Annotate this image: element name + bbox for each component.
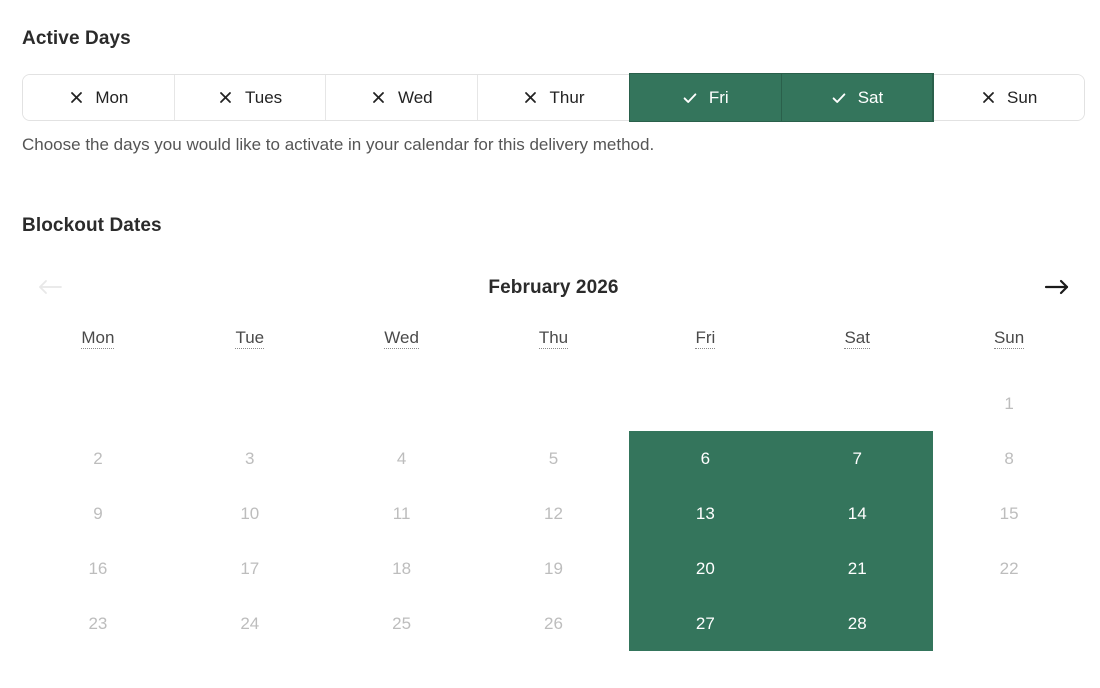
calendar-day[interactable]: 4 bbox=[326, 431, 478, 486]
calendar-day[interactable]: 5 bbox=[478, 431, 630, 486]
calendar-day[interactable]: 23 bbox=[22, 596, 174, 651]
calendar-weekday-label: Fri bbox=[695, 328, 715, 349]
calendar-weekday-label: Thu bbox=[539, 328, 568, 349]
calendar-day[interactable]: 1 bbox=[933, 376, 1085, 431]
calendar-day[interactable]: 10 bbox=[174, 486, 326, 541]
calendar-day[interactable]: 15 bbox=[933, 486, 1085, 541]
calendar-day[interactable]: 17 bbox=[174, 541, 326, 596]
calendar-day[interactable]: 2 bbox=[22, 431, 174, 486]
calendar-day[interactable]: 12 bbox=[478, 486, 630, 541]
active-days-helper-text: Choose the days you would like to activa… bbox=[22, 135, 654, 155]
calendar-weekday-label: Mon bbox=[81, 328, 114, 349]
calendar-week-row: 1 bbox=[22, 376, 1085, 431]
calendar-day-empty bbox=[478, 376, 630, 431]
calendar-day-blocked[interactable]: 13 bbox=[629, 486, 781, 541]
calendar-day[interactable]: 16 bbox=[22, 541, 174, 596]
calendar-day[interactable]: 26 bbox=[478, 596, 630, 651]
calendar-day-blocked[interactable]: 27 bbox=[629, 596, 781, 651]
day-toggle-label: Thur bbox=[550, 89, 585, 106]
calendar-day[interactable]: 24 bbox=[174, 596, 326, 651]
calendar-weekday-label: Sat bbox=[844, 328, 870, 349]
x-icon bbox=[523, 90, 539, 106]
calendar-day-blocked[interactable]: 14 bbox=[781, 486, 933, 541]
calendar-day-blocked[interactable]: 28 bbox=[781, 596, 933, 651]
calendar-weekday-label: Sun bbox=[994, 328, 1024, 349]
day-toggle-tues[interactable]: Tues bbox=[175, 75, 327, 120]
day-toggle-label: Fri bbox=[709, 89, 729, 106]
calendar-weekday-mon: Mon bbox=[22, 328, 174, 350]
calendar-weekday-sat: Sat bbox=[781, 328, 933, 350]
calendar-day[interactable]: 25 bbox=[326, 596, 478, 651]
calendar-weekday-wed: Wed bbox=[326, 328, 478, 350]
calendar-month-title: February 2026 bbox=[488, 277, 618, 299]
calendar-day-blocked[interactable]: 6 bbox=[629, 431, 781, 486]
day-toggle-fri[interactable]: Fri bbox=[630, 74, 782, 121]
arrow-left-icon bbox=[37, 278, 63, 299]
calendar-week-row: 16171819202122 bbox=[22, 541, 1085, 596]
calendar-weekday-fri: Fri bbox=[629, 328, 781, 350]
calendar-day[interactable]: 19 bbox=[478, 541, 630, 596]
calendar-week-row: 232425262728 bbox=[22, 596, 1085, 651]
calendar-day[interactable]: 22 bbox=[933, 541, 1085, 596]
calendar-day[interactable]: 18 bbox=[326, 541, 478, 596]
day-toggle-label: Sun bbox=[1007, 89, 1037, 106]
active-days-selector: MonTuesWedThurFriSatSun bbox=[22, 74, 1085, 121]
calendar-day[interactable]: 8 bbox=[933, 431, 1085, 486]
day-toggle-sat[interactable]: Sat bbox=[782, 74, 934, 121]
calendar-weeks: 1234567891011121314151617181920212223242… bbox=[22, 376, 1085, 651]
calendar-week-row: 9101112131415 bbox=[22, 486, 1085, 541]
blockout-dates-heading: Blockout Dates bbox=[22, 216, 162, 235]
calendar-day[interactable]: 9 bbox=[22, 486, 174, 541]
day-toggle-wed[interactable]: Wed bbox=[326, 75, 478, 120]
calendar-weekday-headers: MonTueWedThuFriSatSun bbox=[22, 328, 1085, 350]
day-toggle-mon[interactable]: Mon bbox=[23, 75, 175, 120]
calendar-day-empty bbox=[174, 376, 326, 431]
calendar-day[interactable]: 3 bbox=[174, 431, 326, 486]
calendar-weekday-sun: Sun bbox=[933, 328, 1085, 350]
calendar-day-blocked[interactable]: 21 bbox=[781, 541, 933, 596]
blockout-calendar: February 2026 MonTueWedThuFriSatSun 1234… bbox=[22, 258, 1085, 651]
x-icon bbox=[68, 90, 84, 106]
calendar-prev-month-button[interactable] bbox=[30, 272, 70, 304]
calendar-weekday-thu: Thu bbox=[478, 328, 630, 350]
calendar-day-empty bbox=[781, 376, 933, 431]
calendar-next-month-button[interactable] bbox=[1037, 272, 1077, 304]
x-icon bbox=[218, 90, 234, 106]
check-icon bbox=[831, 90, 847, 106]
calendar-weekday-tue: Tue bbox=[174, 328, 326, 350]
check-icon bbox=[682, 90, 698, 106]
calendar-day-empty bbox=[933, 596, 1085, 651]
blockout-dates-page: Active Days MonTuesWedThurFriSatSun Choo… bbox=[0, 0, 1100, 688]
active-days-heading: Active Days bbox=[22, 29, 131, 48]
calendar-week-row: 2345678 bbox=[22, 431, 1085, 486]
calendar-day-blocked[interactable]: 20 bbox=[629, 541, 781, 596]
day-toggle-sun[interactable]: Sun bbox=[933, 75, 1084, 120]
day-toggle-label: Sat bbox=[858, 89, 884, 106]
arrow-right-icon bbox=[1044, 278, 1070, 299]
calendar-header: February 2026 bbox=[22, 258, 1085, 318]
calendar-day-empty bbox=[22, 376, 174, 431]
day-toggle-thur[interactable]: Thur bbox=[478, 75, 630, 120]
calendar-weekday-label: Tue bbox=[235, 328, 264, 349]
day-toggle-label: Wed bbox=[398, 89, 433, 106]
calendar-day-empty bbox=[326, 376, 478, 431]
calendar-day-empty bbox=[629, 376, 781, 431]
calendar-weekday-label: Wed bbox=[384, 328, 419, 349]
calendar-grid: MonTueWedThuFriSatSun 123456789101112131… bbox=[22, 328, 1085, 651]
x-icon bbox=[371, 90, 387, 106]
x-icon bbox=[980, 90, 996, 106]
day-toggle-label: Tues bbox=[245, 89, 282, 106]
calendar-day[interactable]: 11 bbox=[326, 486, 478, 541]
calendar-day-blocked[interactable]: 7 bbox=[781, 431, 933, 486]
day-toggle-label: Mon bbox=[95, 89, 128, 106]
